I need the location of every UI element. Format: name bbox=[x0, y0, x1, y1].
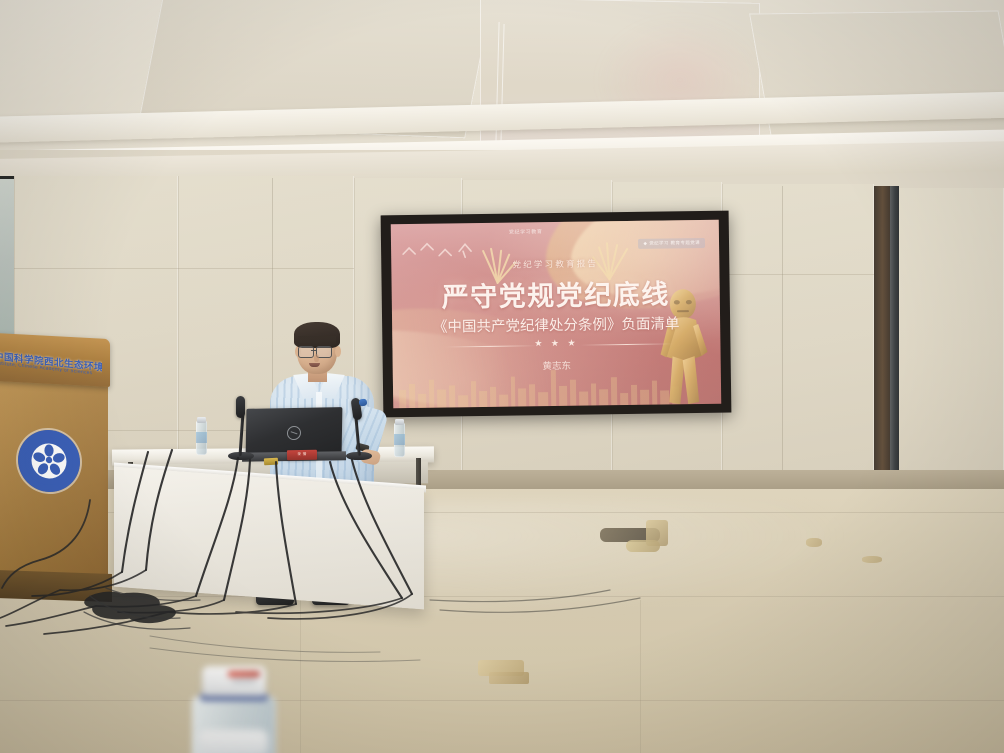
dell-logo-icon bbox=[287, 426, 301, 440]
bottle-cap bbox=[197, 417, 206, 423]
wall-seam bbox=[722, 274, 874, 275]
floor-seam bbox=[0, 596, 1004, 597]
bottle-cap-detail bbox=[232, 679, 256, 683]
bottle-cap bbox=[395, 419, 404, 425]
wall-seam bbox=[14, 268, 354, 269]
slide-corner-badge: ◆ 党纪学习 教育专题党课 bbox=[638, 238, 705, 249]
glasses-bridge bbox=[311, 350, 316, 351]
wall-seam bbox=[782, 186, 783, 478]
podium-base bbox=[0, 570, 112, 602]
podium: 中国科学院西北生态环境资源研究院 Institute, Chinese Acad… bbox=[0, 336, 106, 616]
bottle-label bbox=[196, 432, 207, 443]
slide-title: 严守党规党纪底线 bbox=[391, 272, 720, 316]
cas-emblem-icon bbox=[18, 429, 80, 493]
floor-seam bbox=[640, 600, 641, 753]
bottle-cap bbox=[202, 666, 266, 696]
yellow-adapter bbox=[264, 458, 278, 466]
foreground-object bbox=[198, 730, 268, 753]
bottle-label bbox=[394, 434, 405, 445]
podium-nameplate: 中国科学院西北生态环境资源研究院 Institute, Chinese Acad… bbox=[0, 333, 110, 387]
floor-debris bbox=[806, 538, 822, 547]
red-device: 录 播 bbox=[287, 450, 317, 461]
slide-watermark: 党纪学习教育 bbox=[509, 228, 543, 235]
floor-seam bbox=[300, 600, 301, 753]
table-front-panel bbox=[114, 467, 424, 610]
projection-screen: 党纪学习教育 ◆ 党纪学习 教育专题党课 党纪学习教育报告 严守党规党纪底线 《… bbox=[391, 220, 722, 409]
floor-debris bbox=[862, 556, 882, 563]
speaker-eyebrow bbox=[300, 343, 312, 345]
microphone-head bbox=[236, 396, 245, 418]
floor-seam bbox=[0, 700, 1004, 701]
cas-flower-icon bbox=[24, 435, 74, 487]
door-frame bbox=[890, 186, 899, 478]
red-device-label: 录 播 bbox=[287, 451, 317, 457]
speaker-ear bbox=[335, 346, 341, 357]
floor-debris bbox=[626, 540, 660, 552]
floor-debris bbox=[489, 672, 529, 684]
wall-panel bbox=[898, 188, 1004, 478]
speaker-eyebrow bbox=[319, 343, 331, 345]
bottle-cap-seal bbox=[228, 671, 260, 677]
glasses-icon bbox=[298, 346, 314, 358]
lecture-hall-photo: 党纪学习教育 ◆ 党纪学习 教育专题党课 党纪学习教育报告 严守党规党纪底线 《… bbox=[0, 0, 1004, 753]
wall-panel bbox=[722, 184, 874, 476]
projection-screen-frame: 党纪学习教育 ◆ 党纪学习 教育专题党课 党纪学习教育报告 严守党规党纪底线 《… bbox=[381, 211, 732, 418]
speaker-nose bbox=[314, 354, 319, 362]
